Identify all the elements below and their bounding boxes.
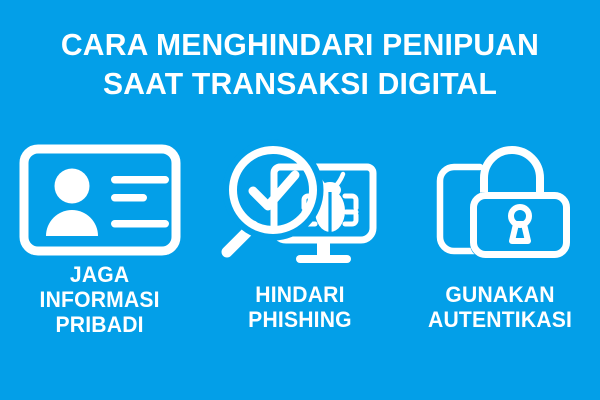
tip-card-use-authentication: GUNAKAN AUTENTIKASI [400,140,600,332]
tip-caption: GUNAKAN AUTENTIKASI [428,282,572,332]
padlock-shackle-icon [484,150,540,199]
tip-caption: HINDARI PHISHING [248,282,352,332]
id-card-icon-svg [19,144,181,256]
tip-card-personal-info: JAGA INFORMASI PRIBADI [0,140,200,337]
tip-caption: JAGA INFORMASI PRIBADI [40,262,160,337]
tip-card-avoid-phishing: HINDARI PHISHING [200,140,400,332]
title-line-1: CARA MENGHINDARI PENIPUAN [9,25,591,64]
magnifier-check-monitor-bug-icon [215,140,385,268]
magnifier-check-monitor-bug-icon-svg [211,138,389,270]
padlock-keyhole-icon-svg [420,140,580,268]
id-card-icon [15,140,185,260]
title-line-2: SAAT TRANSAKSI DIGITAL [9,64,591,103]
tips-row: JAGA INFORMASI PRIBADI [0,140,600,337]
infographic-poster: CARA MENGHINDARI PENIPUAN SAAT TRANSAKSI… [0,0,600,400]
padlock-keyhole-icon [415,140,585,268]
poster-title: CARA MENGHINDARI PENIPUAN SAAT TRANSAKSI… [0,25,600,103]
